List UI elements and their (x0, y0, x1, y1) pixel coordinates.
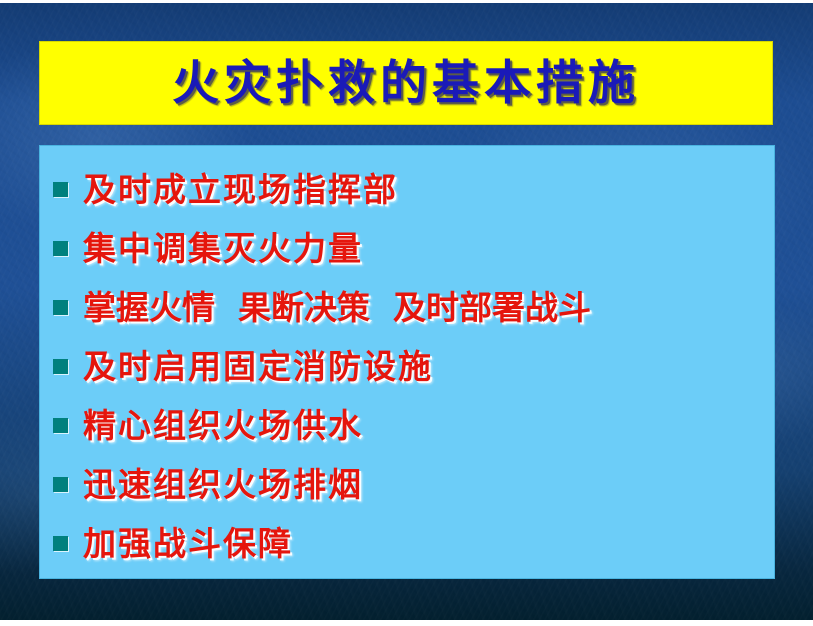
square-bullet-icon (53, 241, 68, 256)
list-item: 精心组织火场供水 (40, 396, 774, 455)
list-item: 掌握火情 果断决策 及时部署战斗 (40, 278, 774, 337)
square-bullet-icon (53, 359, 68, 374)
list-item-label: 精心组织火场供水 (83, 409, 363, 442)
list-item: 及时成立现场指挥部 (40, 160, 774, 219)
presentation-slide: 火灾扑救的基本措施 及时成立现场指挥部 集中调集灭火力量 掌握火情 果断决策 及… (0, 0, 813, 626)
square-bullet-icon (53, 418, 68, 433)
list-item: 集中调集灭火力量 (40, 219, 774, 278)
list-item-label: 加强战斗保障 (83, 527, 293, 560)
list-item: 加强战斗保障 (40, 514, 774, 573)
square-bullet-icon (53, 300, 68, 315)
list-item: 迅速组织火场排烟 (40, 455, 774, 514)
square-bullet-icon (53, 477, 68, 492)
page-title: 火灾扑救的基本措施 (172, 60, 640, 107)
slide-title-banner: 火灾扑救的基本措施 (39, 41, 773, 125)
square-bullet-icon (53, 182, 68, 197)
bullet-list: 及时成立现场指挥部 集中调集灭火力量 掌握火情 果断决策 及时部署战斗 及时启用… (40, 160, 774, 573)
list-item-label: 集中调集灭火力量 (83, 232, 363, 265)
list-item-label: 掌握火情 果断决策 及时部署战斗 (83, 291, 591, 324)
list-item-label: 及时成立现场指挥部 (83, 173, 398, 206)
list-item-label: 及时启用固定消防设施 (83, 350, 433, 383)
list-item-label: 迅速组织火场排烟 (83, 468, 363, 501)
slide-content-panel: 及时成立现场指挥部 集中调集灭火力量 掌握火情 果断决策 及时部署战斗 及时启用… (39, 145, 775, 579)
list-item: 及时启用固定消防设施 (40, 337, 774, 396)
square-bullet-icon (53, 536, 68, 551)
